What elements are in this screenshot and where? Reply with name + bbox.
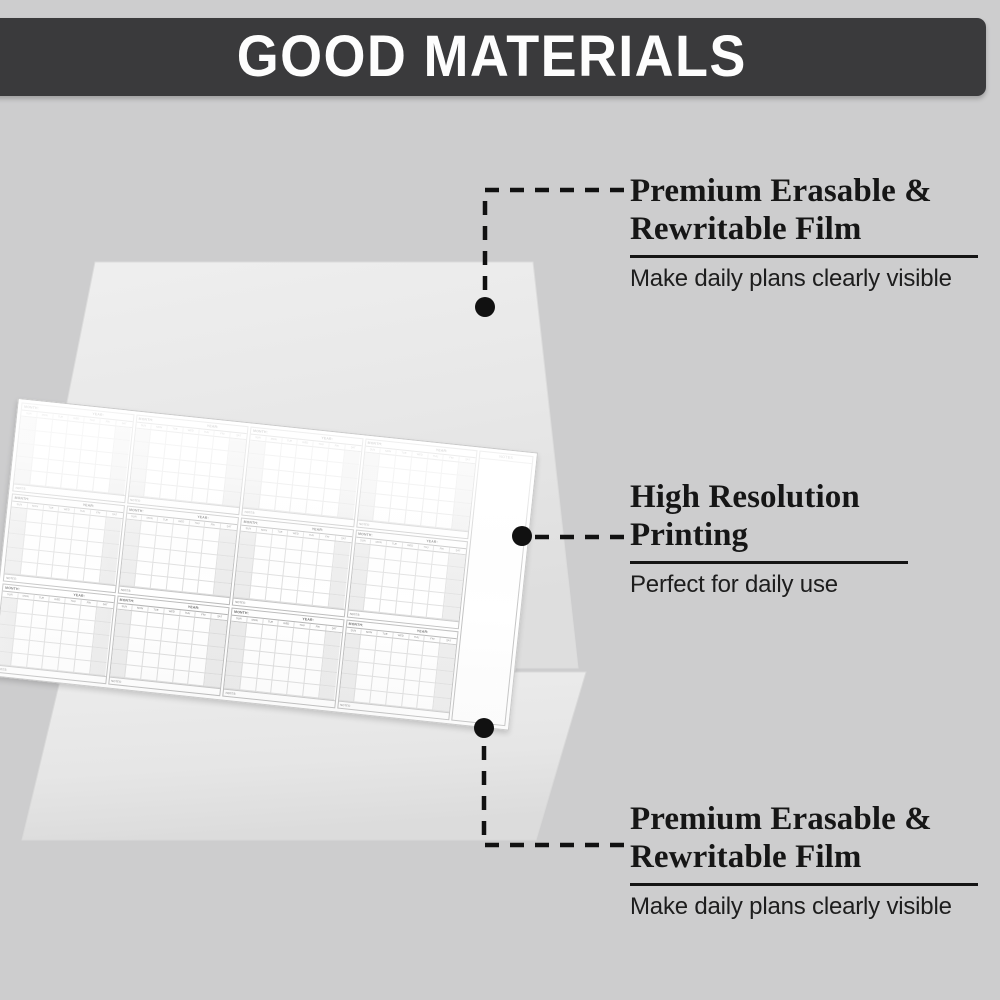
leader-line-top <box>485 190 624 300</box>
callout-subtitle: Perfect for daily use <box>630 571 980 599</box>
callout-divider <box>630 561 908 564</box>
callout-premium-film-top: Premium Erasable & Rewritable Film Make … <box>630 172 980 293</box>
callout-premium-film-bottom: Premium Erasable & Rewritable Film Make … <box>630 800 980 921</box>
leader-line-bottom <box>484 735 624 845</box>
callout-title: Premium Erasable & Rewritable Film <box>630 172 980 248</box>
dot-marker-middle <box>512 526 532 546</box>
callout-divider <box>630 883 978 886</box>
callout-title: High Resolution Printing <box>630 478 980 554</box>
callout-subtitle: Make daily plans clearly visible <box>630 893 980 921</box>
dot-marker-bottom <box>474 718 494 738</box>
callout-subtitle: Make daily plans clearly visible <box>630 265 980 293</box>
callout-divider <box>630 255 978 258</box>
callout-title: Premium Erasable & Rewritable Film <box>630 800 980 876</box>
infographic-stage: GOOD MATERIALS <box>0 0 1000 1000</box>
callout-high-resolution-printing: High Resolution Printing Perfect for dai… <box>630 478 980 599</box>
dot-marker-top <box>475 297 495 317</box>
